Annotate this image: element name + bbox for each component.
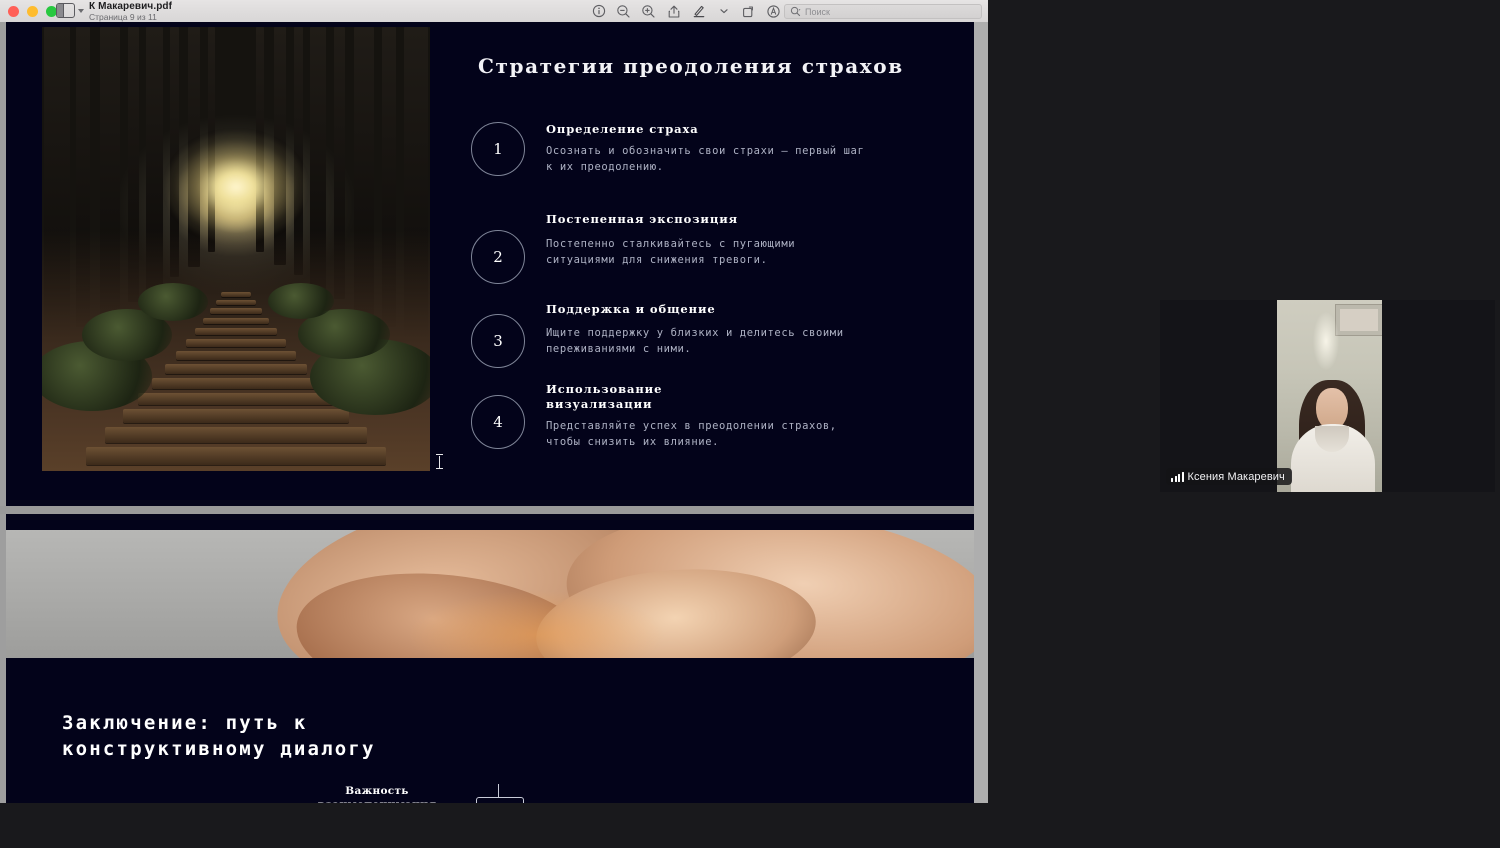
zoom-out-icon[interactable] [611, 2, 636, 20]
markup-pen-icon[interactable] [686, 2, 711, 20]
wall-picture [1335, 304, 1382, 336]
search-icon [790, 6, 801, 17]
text-cursor [436, 454, 443, 470]
step-body: Постепенно сталкивайтесь с пугающими сит… [546, 237, 971, 268]
window-titlebar: К Макаревич.pdf Страница 9 из 11 [0, 0, 988, 23]
pdf-scroll-area[interactable]: Стратегии преодоления страхов 1 Определе… [0, 22, 988, 803]
step-number-badge: 3 [471, 314, 525, 368]
participant-name-badge: Ксения Макаревич [1166, 468, 1292, 485]
strategy-item: 4 Использование визуализации Представляй… [471, 382, 971, 446]
minimize-button[interactable] [27, 6, 38, 17]
step-number-badge: 2 [471, 230, 525, 284]
step-heading: Постепенная экспозиция [546, 212, 971, 227]
page-status: Страница 9 из 11 [89, 12, 157, 22]
screen-root: К Макаревич.pdf Страница 9 из 11 [0, 0, 1500, 848]
pdf-page-9: Стратегии преодоления страхов 1 Определе… [6, 22, 980, 506]
step-body: Ищите поддержку у близких и делитесь сво… [546, 326, 971, 357]
sidebar-toggle-button[interactable] [56, 3, 84, 18]
strategy-list: 1 Определение страха Осознать и обозначи… [471, 122, 971, 464]
step-heading: Поддержка и общение [546, 302, 971, 317]
slide-title: Стратегии преодоления страхов [478, 54, 904, 78]
step-heading: Использование визуализации [546, 382, 971, 412]
highlight-icon[interactable] [761, 2, 786, 20]
step-number-badge: 4 [471, 395, 525, 449]
step-body: Осознать и обозначить свои страхи — перв… [546, 144, 971, 175]
chevron-down-icon [78, 9, 84, 13]
participant-name: Ксения Макаревич [1188, 471, 1285, 483]
markup-chevron-down-icon[interactable] [711, 2, 736, 20]
toolbar [586, 2, 786, 20]
light-glow [166, 132, 306, 242]
diagram-connector-vertical [498, 784, 499, 798]
page-separator [0, 506, 988, 514]
close-button[interactable] [8, 6, 19, 17]
traffic-lights [8, 6, 57, 17]
diagram-node: 1 [476, 797, 524, 803]
pdf-page-10: Заключение: путь к конструктивному диало… [6, 514, 980, 803]
diagram-label: Важность взаимопонимания [282, 784, 472, 803]
rotate-icon[interactable] [736, 2, 761, 20]
strategy-item: 2 Постепенная экспозиция Постепенно стал… [471, 212, 971, 284]
wall-light [1313, 312, 1339, 370]
video-participant-tile[interactable]: Ксения Макаревич [1160, 300, 1495, 492]
forest-path-image [42, 27, 430, 471]
strategy-item: 1 Определение страха Осознать и обозначи… [471, 122, 971, 194]
hands-image [6, 530, 980, 658]
search-field[interactable]: Поиск [784, 4, 982, 19]
search-placeholder: Поиск [805, 7, 830, 17]
vertical-scrollbar[interactable] [974, 22, 988, 803]
step-body: Представляйте успех в преодолении страхо… [546, 419, 971, 450]
signal-bars-icon [1171, 472, 1184, 482]
preview-window: К Макаревич.pdf Страница 9 из 11 [0, 0, 988, 803]
video-feed [1277, 300, 1382, 492]
document-title: К Макаревич.pdf [89, 1, 172, 12]
info-icon[interactable] [586, 2, 611, 20]
strategy-item: 3 Поддержка и общение Ищите поддержку у … [471, 302, 971, 364]
sidebar-icon [56, 3, 75, 18]
step-number-badge: 1 [471, 122, 525, 176]
step-heading: Определение страха [546, 122, 971, 137]
conclusion-title: Заключение: путь к конструктивному диало… [62, 710, 376, 762]
zoom-in-icon[interactable] [636, 2, 661, 20]
share-icon[interactable] [661, 2, 686, 20]
